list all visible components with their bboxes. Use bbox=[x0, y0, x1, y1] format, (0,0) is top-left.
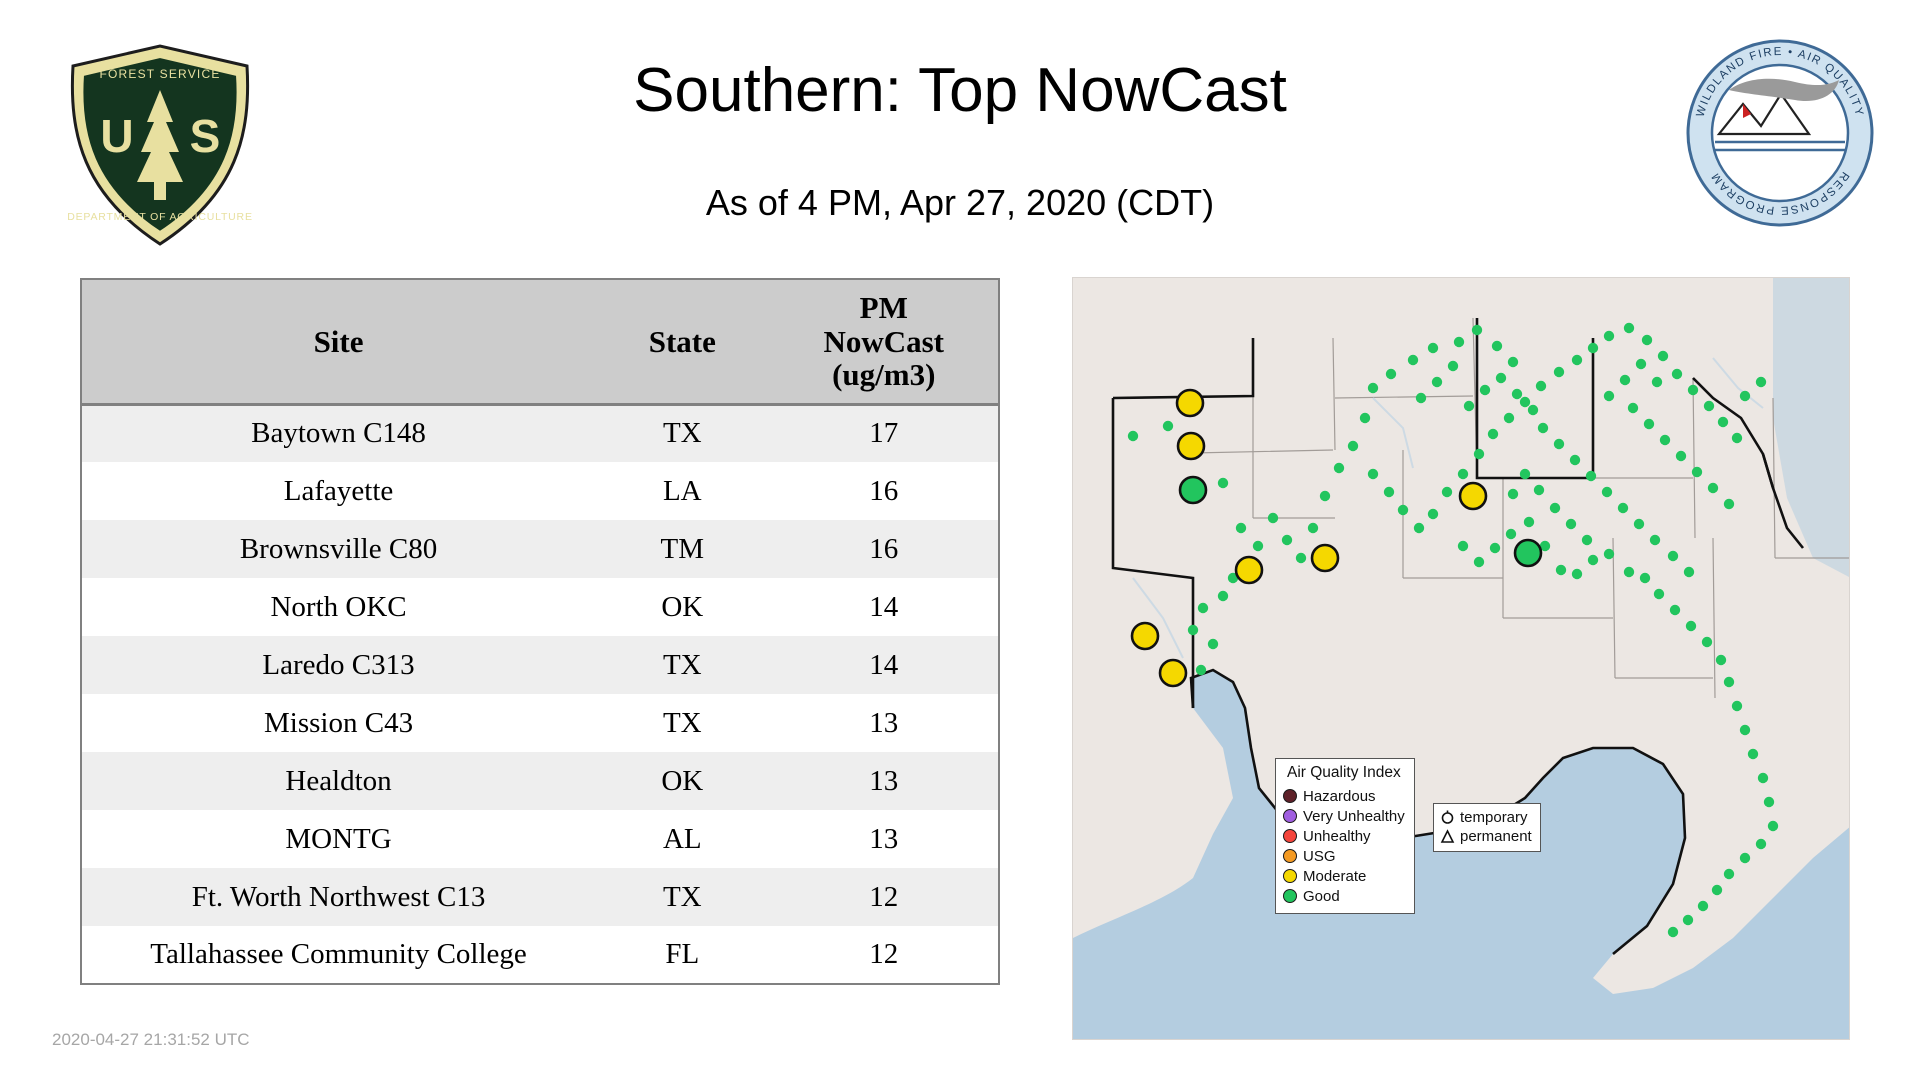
monitor-dot-good bbox=[1768, 821, 1778, 831]
nowcast-label: NowCast bbox=[823, 324, 944, 359]
monitor-dot-good bbox=[1512, 389, 1522, 399]
svg-text:DEPARTMENT OF AGRICULTURE: DEPARTMENT OF AGRICULTURE bbox=[67, 211, 253, 223]
table-row[interactable]: Brownsville C80TM16 bbox=[81, 520, 999, 578]
monitor-dot-good bbox=[1650, 535, 1660, 545]
svg-text:U: U bbox=[100, 110, 133, 162]
legend-label: Unhealthy bbox=[1303, 829, 1371, 844]
monitor-dot-good bbox=[1624, 567, 1634, 577]
temporary-circle-icon bbox=[1439, 809, 1456, 826]
monitor-dot-good bbox=[1756, 377, 1766, 387]
monitor-dot-good bbox=[1428, 509, 1438, 519]
monitor-dot-good bbox=[1654, 589, 1664, 599]
legend-swatch-icon bbox=[1283, 809, 1297, 823]
monitor-dot-good bbox=[1628, 403, 1638, 413]
legend-row-hazardous: Hazardous bbox=[1283, 786, 1405, 806]
cell-value: 12 bbox=[769, 868, 999, 926]
column-header-pm-nowcast[interactable]: PM NowCast (ug/m3) bbox=[769, 279, 999, 404]
legend-row-very-unhealthy: Very Unhealthy bbox=[1283, 806, 1405, 826]
monitor-dot-good bbox=[1740, 853, 1750, 863]
table-row[interactable]: Ft. Worth Northwest C13TX12 bbox=[81, 868, 999, 926]
monitor-dot-good bbox=[1188, 625, 1198, 635]
monitor-dot-good bbox=[1588, 555, 1598, 565]
monitor-dot-good bbox=[1282, 535, 1292, 545]
legend-label: USG bbox=[1303, 849, 1336, 864]
monitor-dot-good bbox=[1208, 639, 1218, 649]
monitor-dot-good bbox=[1688, 385, 1698, 395]
monitor-dot-good bbox=[1686, 621, 1696, 631]
monitor-dot-good bbox=[1556, 565, 1566, 575]
cell-state: FL bbox=[595, 926, 769, 984]
cell-state: TX bbox=[595, 694, 769, 752]
monitor-dot-good bbox=[1534, 485, 1544, 495]
monitor-dot-good bbox=[1268, 513, 1278, 523]
monitor-dot-good bbox=[1442, 487, 1452, 497]
monitor-dot-good bbox=[1432, 377, 1442, 387]
monitor-dot-good bbox=[1454, 337, 1464, 347]
monitor-dot-good bbox=[1668, 927, 1678, 937]
map-legend: Air Quality Index HazardousVery Unhealth… bbox=[1275, 758, 1415, 914]
column-header-state[interactable]: State bbox=[595, 279, 769, 404]
nowcast-table: Site State PM NowCast (ug/m3) Baytown C1… bbox=[80, 278, 1000, 985]
monitor-dot-good bbox=[1724, 499, 1734, 509]
monitor-dot-good bbox=[1756, 839, 1766, 849]
table-header-row: Site State PM NowCast (ug/m3) bbox=[81, 279, 999, 404]
monitor-dot-good bbox=[1712, 885, 1722, 895]
symbol-label-temporary: temporary bbox=[1460, 809, 1528, 826]
cell-site: Brownsville C80 bbox=[81, 520, 595, 578]
svg-text:FOREST SERVICE: FOREST SERVICE bbox=[99, 67, 220, 81]
monitor-dot-good bbox=[1634, 519, 1644, 529]
monitor-dot-good bbox=[1586, 471, 1596, 481]
cell-site: Lafayette bbox=[81, 462, 595, 520]
monitor-dot-good bbox=[1464, 401, 1474, 411]
cell-value: 13 bbox=[769, 810, 999, 868]
monitor-dot-good bbox=[1604, 549, 1614, 559]
legend-row-moderate: Moderate bbox=[1283, 866, 1405, 886]
monitor-dot-good bbox=[1458, 469, 1468, 479]
cell-value: 16 bbox=[769, 520, 999, 578]
monitor-dot-good bbox=[1414, 523, 1424, 533]
footer-timestamp: 2020-04-27 21:31:52 UTC bbox=[52, 1030, 250, 1050]
monitor-dot-good bbox=[1236, 523, 1246, 533]
monitor-dot-good bbox=[1732, 701, 1742, 711]
legend-label: Very Unhealthy bbox=[1303, 809, 1405, 824]
monitor-marker-7[interactable] bbox=[1132, 623, 1158, 649]
monitor-dot-good bbox=[1644, 419, 1654, 429]
monitor-dot-good bbox=[1716, 655, 1726, 665]
monitor-dot-good bbox=[1474, 449, 1484, 459]
cell-state: TM bbox=[595, 520, 769, 578]
monitor-dot-good bbox=[1582, 535, 1592, 545]
dashboard-root: FOREST SERVICE U S DEPARTMENT OF AGRICUL… bbox=[0, 0, 1920, 1080]
page-title: Southern: Top NowCast bbox=[300, 55, 1620, 126]
monitor-dot-good bbox=[1492, 341, 1502, 351]
monitor-dot-good bbox=[1308, 523, 1318, 533]
monitor-marker-5[interactable] bbox=[1312, 545, 1338, 571]
monitor-dot-good bbox=[1360, 413, 1370, 423]
monitor-dot-good bbox=[1428, 343, 1438, 353]
cell-state: LA bbox=[595, 462, 769, 520]
monitor-dot-good bbox=[1718, 417, 1728, 427]
monitor-dot-good bbox=[1740, 725, 1750, 735]
legend-title: Air Quality Index bbox=[1283, 764, 1405, 782]
monitor-dot-good bbox=[1620, 375, 1630, 385]
table-header: Site State PM NowCast (ug/m3) bbox=[81, 279, 999, 404]
monitor-dot-good bbox=[1218, 591, 1228, 601]
monitor-dot-good bbox=[1740, 391, 1750, 401]
monitor-dot-good bbox=[1386, 369, 1396, 379]
monitor-dot-good bbox=[1602, 487, 1612, 497]
monitor-dot-good bbox=[1670, 605, 1680, 615]
monitor-dot-good bbox=[1520, 469, 1530, 479]
legend-swatch-icon bbox=[1283, 889, 1297, 903]
cell-value: 13 bbox=[769, 752, 999, 810]
legend-row-usg: USG bbox=[1283, 846, 1405, 866]
cell-site: Baytown C148 bbox=[81, 404, 595, 462]
cell-value: 16 bbox=[769, 462, 999, 520]
cell-site: North OKC bbox=[81, 578, 595, 636]
monitor-dot-good bbox=[1652, 377, 1662, 387]
map-symbol-legend: temporary permanent bbox=[1433, 803, 1541, 852]
monitor-dot-good bbox=[1684, 567, 1694, 577]
monitor-marker-3[interactable] bbox=[1460, 483, 1486, 509]
monitor-dot-good bbox=[1764, 797, 1774, 807]
cell-site: Healdton bbox=[81, 752, 595, 810]
monitor-dot-good bbox=[1676, 451, 1686, 461]
svg-text:S: S bbox=[190, 110, 221, 162]
cell-value: 13 bbox=[769, 694, 999, 752]
monitor-dot-good bbox=[1348, 441, 1358, 451]
monitor-dot-good bbox=[1702, 637, 1712, 647]
legend-swatch-icon bbox=[1283, 849, 1297, 863]
monitor-dot-good bbox=[1572, 355, 1582, 365]
monitor-dot-good bbox=[1528, 405, 1538, 415]
monitor-dot-good bbox=[1398, 505, 1408, 515]
monitor-dot-good bbox=[1724, 677, 1734, 687]
monitor-dot-good bbox=[1724, 869, 1734, 879]
legend-row-unhealthy: Unhealthy bbox=[1283, 826, 1405, 846]
monitor-dot-good bbox=[1524, 517, 1534, 527]
cell-site: MONTG bbox=[81, 810, 595, 868]
monitor-dot-good bbox=[1520, 397, 1530, 407]
monitor-dot-good bbox=[1218, 478, 1228, 488]
monitor-dot-good bbox=[1508, 357, 1518, 367]
page-subtitle: As of 4 PM, Apr 27, 2020 (CDT) bbox=[300, 182, 1620, 224]
cell-state: TX bbox=[595, 868, 769, 926]
monitor-dot-good bbox=[1604, 331, 1614, 341]
monitor-dot-good bbox=[1604, 391, 1614, 401]
cell-value: 12 bbox=[769, 926, 999, 984]
cell-site: Mission C43 bbox=[81, 694, 595, 752]
table-row[interactable]: Baytown C148TX17 bbox=[81, 404, 999, 462]
monitor-dot-good bbox=[1636, 359, 1646, 369]
monitor-dot-good bbox=[1320, 491, 1330, 501]
table-row[interactable]: HealdtonOK13 bbox=[81, 752, 999, 810]
monitor-dot-good bbox=[1490, 543, 1500, 553]
monitor-dot-good bbox=[1732, 433, 1742, 443]
monitor-dot-good bbox=[1488, 429, 1498, 439]
monitor-dot-good bbox=[1504, 413, 1514, 423]
table-body: Baytown C148TX17LafayetteLA16Brownsville… bbox=[81, 404, 999, 984]
monitor-dot-good bbox=[1368, 383, 1378, 393]
legend-items: HazardousVery UnhealthyUnhealthyUSGModer… bbox=[1283, 786, 1405, 906]
monitor-dot-good bbox=[1296, 553, 1306, 563]
cell-site: Ft. Worth Northwest C13 bbox=[81, 868, 595, 926]
symbol-row-temporary: temporary bbox=[1439, 808, 1532, 827]
units-label: (ug/m3) bbox=[832, 357, 935, 392]
monitor-dot-good bbox=[1480, 385, 1490, 395]
column-header-site[interactable]: Site bbox=[81, 279, 595, 404]
cell-site: Laredo C313 bbox=[81, 636, 595, 694]
monitor-dot-good bbox=[1672, 369, 1682, 379]
monitor-dot-good bbox=[1416, 393, 1426, 403]
cell-state: AL bbox=[595, 810, 769, 868]
monitor-dot-good bbox=[1253, 541, 1263, 551]
monitor-dot-good bbox=[1538, 423, 1548, 433]
monitor-dot-good bbox=[1658, 351, 1668, 361]
legend-row-good: Good bbox=[1283, 886, 1405, 906]
table-row[interactable]: Laredo C313TX14 bbox=[81, 636, 999, 694]
table-row[interactable]: Tallahassee Community CollegeFL12 bbox=[81, 926, 999, 984]
pm-label: PM bbox=[860, 290, 908, 325]
monitor-dot-good bbox=[1506, 529, 1516, 539]
monitor-marker-2[interactable] bbox=[1180, 477, 1206, 503]
cell-state: TX bbox=[595, 636, 769, 694]
table-row[interactable]: LafayetteLA16 bbox=[81, 462, 999, 520]
monitor-dot-good bbox=[1692, 467, 1702, 477]
monitor-marker-8[interactable] bbox=[1160, 660, 1186, 686]
monitor-dot-good bbox=[1758, 773, 1768, 783]
monitor-dot-good bbox=[1668, 551, 1678, 561]
monitor-dot-good bbox=[1448, 361, 1458, 371]
monitor-dot-good bbox=[1474, 557, 1484, 567]
monitor-dot-good bbox=[1698, 901, 1708, 911]
table-row[interactable]: Mission C43TX13 bbox=[81, 694, 999, 752]
cell-value: 17 bbox=[769, 404, 999, 462]
monitor-dot-good bbox=[1660, 435, 1670, 445]
monitor-dot-good bbox=[1572, 569, 1582, 579]
permanent-triangle-icon bbox=[1439, 828, 1456, 845]
monitor-dot-good bbox=[1472, 325, 1482, 335]
monitor-dot-good bbox=[1708, 483, 1718, 493]
monitor-dot-good bbox=[1368, 469, 1378, 479]
legend-swatch-icon bbox=[1283, 869, 1297, 883]
cell-value: 14 bbox=[769, 578, 999, 636]
monitor-dot-good bbox=[1334, 463, 1344, 473]
symbol-row-permanent: permanent bbox=[1439, 827, 1532, 846]
wildland-fire-air-quality-logo: WILDLAND FIRE • AIR QUALITY RESPONSE PRO… bbox=[1685, 38, 1875, 228]
legend-label: Moderate bbox=[1303, 869, 1366, 884]
legend-label: Good bbox=[1303, 889, 1340, 904]
monitor-dot-good bbox=[1536, 381, 1546, 391]
monitor-dot-good bbox=[1624, 323, 1634, 333]
monitor-dot-good bbox=[1588, 343, 1598, 353]
cell-state: OK bbox=[595, 752, 769, 810]
monitor-dot-good bbox=[1198, 603, 1208, 613]
map-base-layer bbox=[1073, 278, 1850, 1040]
monitor-dot-good bbox=[1618, 503, 1628, 513]
table-row[interactable]: North OKCOK14 bbox=[81, 578, 999, 636]
symbol-label-permanent: permanent bbox=[1460, 828, 1532, 845]
forest-service-shield-logo: FOREST SERVICE U S DEPARTMENT OF AGRICUL… bbox=[55, 30, 265, 260]
monitor-dot-good bbox=[1640, 573, 1650, 583]
cell-site: Tallahassee Community College bbox=[81, 926, 595, 984]
monitor-dot-good bbox=[1550, 503, 1560, 513]
cell-state: OK bbox=[595, 578, 769, 636]
monitor-dot-good bbox=[1196, 665, 1206, 675]
legend-swatch-icon bbox=[1283, 789, 1297, 803]
monitor-dot-good bbox=[1642, 335, 1652, 345]
monitor-dot-good bbox=[1683, 915, 1693, 925]
monitor-dot-good bbox=[1163, 421, 1173, 431]
monitor-marker-0[interactable] bbox=[1177, 390, 1203, 416]
monitor-dot-good bbox=[1554, 439, 1564, 449]
monitor-dot-good bbox=[1748, 749, 1758, 759]
monitor-dot-good bbox=[1384, 487, 1394, 497]
cell-state: TX bbox=[595, 404, 769, 462]
nowcast-table-container: Site State PM NowCast (ug/m3) Baytown C1… bbox=[80, 278, 1000, 985]
monitor-dot-good bbox=[1128, 431, 1138, 441]
monitor-dot-good bbox=[1408, 355, 1418, 365]
monitor-dot-good bbox=[1554, 367, 1564, 377]
monitor-marker-6[interactable] bbox=[1515, 540, 1541, 566]
cell-value: 14 bbox=[769, 636, 999, 694]
monitor-dot-good bbox=[1566, 519, 1576, 529]
legend-swatch-icon bbox=[1283, 829, 1297, 843]
monitor-marker-4[interactable] bbox=[1236, 557, 1262, 583]
monitor-dot-good bbox=[1508, 489, 1518, 499]
monitor-dot-good bbox=[1458, 541, 1468, 551]
monitor-dot-good bbox=[1704, 401, 1714, 411]
monitor-dot-good bbox=[1496, 373, 1506, 383]
monitor-dot-good bbox=[1570, 455, 1580, 465]
monitor-marker-1[interactable] bbox=[1178, 433, 1204, 459]
air-quality-map[interactable]: Air Quality Index HazardousVery Unhealth… bbox=[1072, 277, 1850, 1040]
legend-label: Hazardous bbox=[1303, 789, 1376, 804]
table-row[interactable]: MONTGAL13 bbox=[81, 810, 999, 868]
